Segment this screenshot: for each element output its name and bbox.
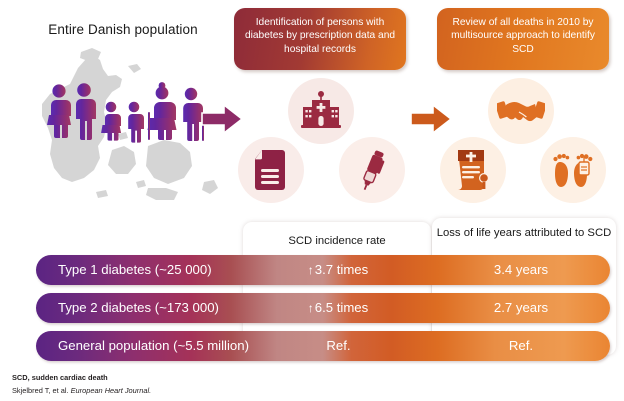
up-arrow-icon: ↑ bbox=[308, 263, 314, 277]
footnote-citation: Skjelbred T, et al. European Heart Journ… bbox=[12, 386, 151, 395]
death-certificate-icon bbox=[440, 137, 506, 203]
footnote-abbreviation: SCD, sudden cardiac death bbox=[12, 373, 108, 382]
page-title: Entire Danish population bbox=[28, 22, 218, 37]
table-row: General population (~5.5 million) Ref. R… bbox=[36, 331, 610, 361]
table-row: Type 2 diabetes (~173 000) ↑6.5 times 2.… bbox=[36, 293, 610, 323]
table-row: Type 1 diabetes (~25 000) ↑3.7 times 3.4… bbox=[36, 255, 610, 285]
toe-tag-feet-icon bbox=[540, 137, 606, 203]
row-scd-rate: ↑6.5 times bbox=[243, 293, 433, 323]
identification-box: Identification of persons with diabetes … bbox=[234, 8, 406, 70]
row-scd-rate: Ref. bbox=[243, 331, 433, 361]
row-scd-rate-value: Ref. bbox=[326, 338, 350, 353]
handshake-icon bbox=[488, 78, 554, 144]
row-scd-rate: ↑3.7 times bbox=[243, 255, 433, 285]
row-scd-rate-value: 3.7 times bbox=[315, 262, 369, 277]
column-header-loss-of-life: Loss of life years attributed to SCD bbox=[436, 226, 612, 240]
row-loss-value: 2.7 years bbox=[432, 293, 610, 323]
citation-journal: European Heart Journal. bbox=[71, 386, 152, 395]
review-box: Review of all deaths in 2010 by multisou… bbox=[437, 8, 609, 70]
row-group-label: Type 2 diabetes (~173 000) bbox=[58, 293, 219, 323]
column-header-scd-rate: SCD incidence rate bbox=[248, 234, 426, 248]
insulin-pen-icon bbox=[339, 137, 405, 203]
row-loss-value: Ref. bbox=[432, 331, 610, 361]
document-icon bbox=[238, 137, 304, 203]
right-arrow-icon bbox=[409, 103, 455, 135]
population-people-icon bbox=[44, 82, 204, 150]
row-scd-rate-value: 6.5 times bbox=[315, 300, 369, 315]
infographic-root: Entire Danish population bbox=[0, 0, 624, 401]
hospital-icon bbox=[288, 78, 354, 144]
citation-author: Skjelbred T, et al. bbox=[12, 386, 71, 395]
right-arrow-icon bbox=[200, 103, 246, 135]
row-loss-value: 3.4 years bbox=[432, 255, 610, 285]
row-group-label: Type 1 diabetes (~25 000) bbox=[58, 255, 212, 285]
row-group-label: General population (~5.5 million) bbox=[58, 331, 249, 361]
up-arrow-icon: ↑ bbox=[308, 301, 314, 315]
